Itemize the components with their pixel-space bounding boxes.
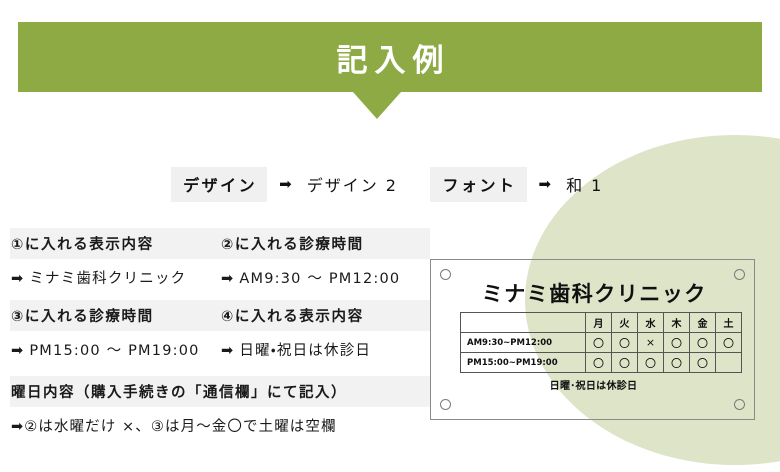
table-row: PM15:00~PM19:00 〇 〇 〇 〇 〇	[461, 353, 742, 373]
table-day-tue: 火	[612, 313, 638, 333]
instruction-head-2: ②に入れる診療時間	[220, 228, 430, 259]
signboard-preview: ミナミ歯科クリニック 月 火 水 木 金 土 AM9:30~PM12:00 〇 …	[430, 259, 755, 420]
table-day-thu: 木	[664, 313, 690, 333]
table-mark-am-mon: 〇	[586, 333, 612, 353]
table-day-sat: 土	[716, 313, 742, 333]
instruction-grid: ①に入れる表示内容 ②に入れる診療時間 ➡ミナミ歯科クリニック ➡AM9:30 …	[10, 228, 430, 372]
table-day-wed: 水	[638, 313, 664, 333]
instruction-value-3-text: PM15:00 〜 PM19:00	[29, 343, 199, 359]
instruction-value-3: ➡PM15:00 〜 PM19:00	[10, 331, 220, 372]
table-day-fri: 金	[690, 313, 716, 333]
arrow-icon: ➡	[11, 343, 29, 359]
arrow-icon: ➡	[221, 271, 239, 287]
design-arrow-icon: ➡	[267, 175, 299, 193]
table-row-label-pm: PM15:00~PM19:00	[461, 353, 586, 373]
banner-pointer-triangle	[353, 92, 401, 119]
table-mark-pm-fri: 〇	[690, 353, 716, 373]
design-value: デザイン 2	[299, 167, 404, 201]
instruction-value-2: ➡AM9:30 〜 PM12:00	[220, 259, 430, 300]
table-mark-pm-sat	[716, 353, 742, 373]
arrow-icon: ➡	[11, 419, 24, 435]
table-corner-cell	[461, 313, 586, 333]
signboard-closed-note: 日曜･祝日は休診日	[431, 377, 756, 392]
instruction-head-4: ④に入れる表示内容	[220, 300, 430, 331]
table-row: AM9:30~PM12:00 〇 〇 × 〇 〇 〇	[461, 333, 742, 353]
instruction-value-1: ➡ミナミ歯科クリニック	[10, 259, 220, 300]
instruction-value-4-text: 日曜・祝日は休診日	[239, 343, 371, 359]
table-mark-pm-tue: 〇	[612, 353, 638, 373]
weekday-note-value-text: ②は水曜だけ ×、③は月〜金〇で土曜は空欄	[24, 419, 336, 435]
arrow-icon: ➡	[11, 271, 29, 287]
page-title: 記入例	[18, 22, 762, 92]
table-mark-am-thu: 〇	[664, 333, 690, 353]
screw-hole-icon	[734, 399, 745, 410]
font-value: 和 1	[558, 167, 609, 201]
instruction-block: ①に入れる表示内容 ②に入れる診療時間 ➡ミナミ歯科クリニック ➡AM9:30 …	[10, 228, 430, 438]
table-mark-am-wed: ×	[638, 333, 664, 353]
font-label-chip: フォント	[430, 167, 527, 202]
font-arrow-icon: ➡	[527, 175, 559, 193]
table-day-mon: 月	[586, 313, 612, 333]
signboard-title: ミナミ歯科クリニック	[431, 278, 756, 308]
table-mark-pm-thu: 〇	[664, 353, 690, 373]
instruction-head-3: ③に入れる診療時間	[10, 300, 220, 331]
table-mark-am-fri: 〇	[690, 333, 716, 353]
weekday-note-value: ➡②は水曜だけ ×、③は月〜金〇で土曜は空欄	[10, 407, 430, 438]
header-banner: 記入例	[18, 22, 762, 92]
table-header-row: 月 火 水 木 金 土	[461, 313, 742, 333]
selection-row: デザイン ➡ デザイン 2 フォント ➡ 和 1	[0, 168, 780, 200]
screw-hole-icon	[440, 399, 451, 410]
table-mark-am-sat: 〇	[716, 333, 742, 353]
instruction-value-1-text: ミナミ歯科クリニック	[29, 271, 186, 287]
table-mark-pm-mon: 〇	[586, 353, 612, 373]
arrow-icon: ➡	[221, 343, 239, 359]
signboard-hours-table: 月 火 水 木 金 土 AM9:30~PM12:00 〇 〇 × 〇 〇 〇 P…	[460, 312, 742, 373]
instruction-value-2-text: AM9:30 〜 PM12:00	[239, 271, 400, 287]
table-mark-am-tue: 〇	[612, 333, 638, 353]
page-root: 記入例 デザイン ➡ デザイン 2 フォント ➡ 和 1 ①に入れる表示内容 ②…	[0, 0, 780, 472]
table-row-label-am: AM9:30~PM12:00	[461, 333, 586, 353]
instruction-head-1: ①に入れる表示内容	[10, 228, 220, 259]
table-mark-pm-wed: 〇	[638, 353, 664, 373]
instruction-value-4: ➡日曜・祝日は休診日	[220, 331, 430, 372]
design-label-chip: デザイン	[171, 167, 268, 202]
weekday-note-head: 曜日内容（購入手続きの「通信欄」にて記入）	[10, 376, 430, 407]
